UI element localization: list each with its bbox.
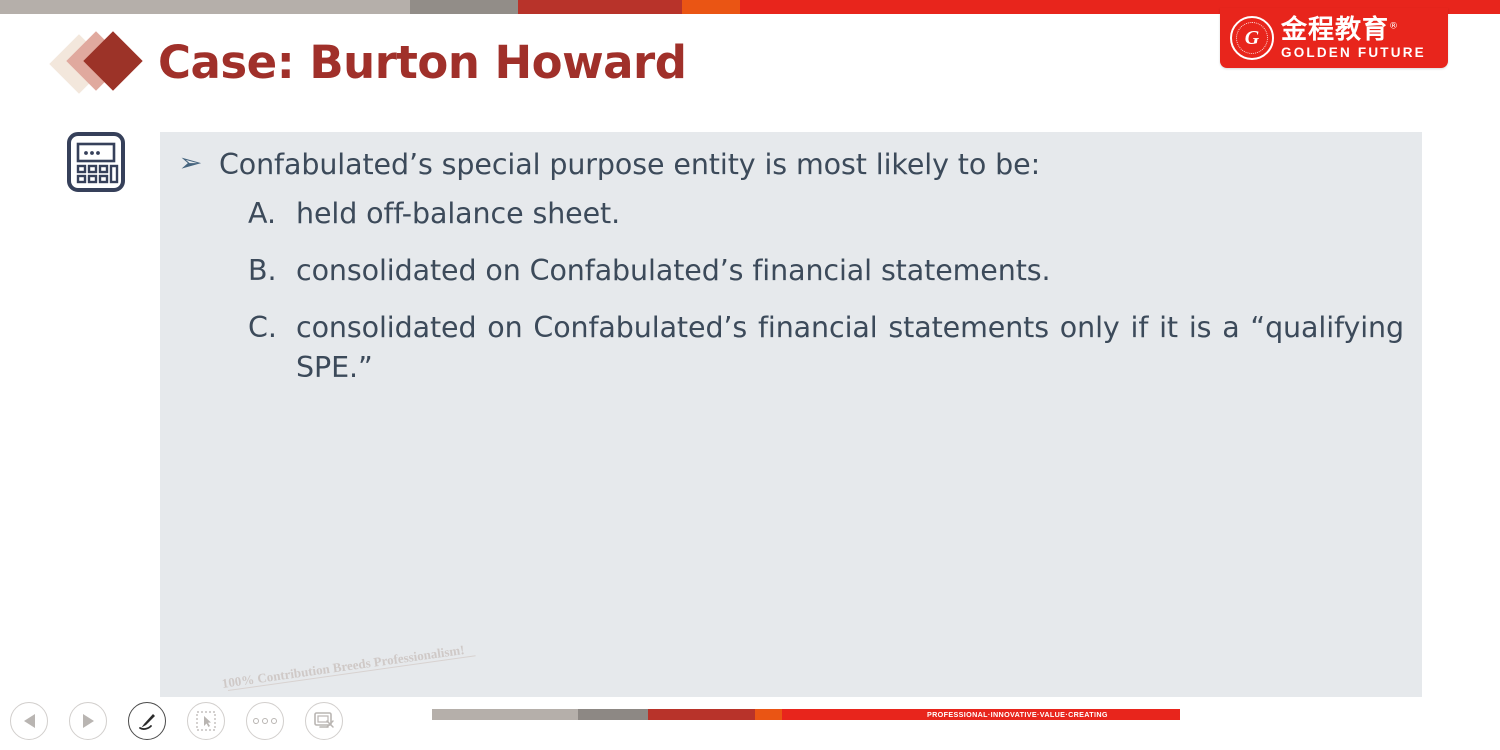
segment-light-gray bbox=[0, 0, 410, 14]
pointer-tool-button[interactable] bbox=[187, 702, 225, 740]
golden-future-seal-icon: G bbox=[1230, 16, 1274, 60]
option-text: held off-balance sheet. bbox=[296, 194, 1404, 234]
presentation-slide: G 金程教育® GOLDEN FUTURE Case: Burton Howar… bbox=[0, 0, 1500, 750]
brand-tagline: PROFESSIONAL·INNOVATIVE·VALUE·CREATING bbox=[927, 710, 1108, 719]
brand-name-cn-text: 金程教育 bbox=[1281, 15, 1389, 45]
previous-slide-button[interactable] bbox=[10, 702, 48, 740]
option-letter: A. bbox=[248, 194, 296, 234]
segment-dark-red bbox=[518, 0, 682, 14]
option-letter: C. bbox=[248, 308, 296, 348]
option-text: consolidated on Confabulated’s financial… bbox=[296, 308, 1404, 428]
next-slide-button[interactable] bbox=[69, 702, 107, 740]
triangle-left-icon bbox=[24, 714, 35, 728]
arrow-bullet-icon: ➢ bbox=[178, 146, 202, 180]
answer-option-a[interactable]: A. held off-balance sheet. bbox=[248, 194, 1404, 234]
option-letter: B. bbox=[248, 251, 296, 291]
more-options-button[interactable] bbox=[246, 702, 284, 740]
segment-orange bbox=[755, 709, 782, 720]
question-text: Confabulated’s special purpose entity is… bbox=[219, 146, 1040, 184]
presentation-view-button[interactable] bbox=[305, 702, 343, 740]
content-panel: ➢ Confabulated’s special purpose entity … bbox=[160, 132, 1422, 697]
brand-name-cn: 金程教育® bbox=[1281, 17, 1426, 43]
segment-orange bbox=[682, 0, 740, 14]
brand-logo-banner: G 金程教育® GOLDEN FUTURE bbox=[1220, 8, 1448, 68]
segment-mid-gray bbox=[578, 709, 648, 720]
answer-options-list: A. held off-balance sheet. B. consolidat… bbox=[160, 184, 1422, 428]
answer-option-c[interactable]: C. consolidated on Confabulated’s financ… bbox=[248, 308, 1404, 428]
question-row: ➢ Confabulated’s special purpose entity … bbox=[160, 132, 1422, 184]
option-text: consolidated on Confabulated’s financial… bbox=[296, 251, 1404, 291]
diamond-bullet-decoration bbox=[58, 32, 150, 98]
segment-mid-gray bbox=[410, 0, 518, 14]
pen-icon bbox=[135, 709, 159, 733]
answer-option-b[interactable]: B. consolidated on Confabulated’s financ… bbox=[248, 251, 1404, 291]
pen-tool-button[interactable] bbox=[128, 702, 166, 740]
three-dots-icon bbox=[253, 718, 277, 724]
triangle-right-icon bbox=[83, 714, 94, 728]
segment-dark-red bbox=[648, 709, 755, 720]
brand-wordmark: 金程教育® GOLDEN FUTURE bbox=[1281, 17, 1426, 60]
seal-monogram: G bbox=[1245, 28, 1259, 48]
registered-trademark-icon: ® bbox=[1389, 21, 1399, 31]
page-title: Case: Burton Howard bbox=[158, 36, 686, 89]
pointer-select-icon bbox=[194, 709, 218, 733]
screen-close-icon bbox=[311, 708, 337, 734]
segment-light-gray bbox=[432, 709, 578, 720]
calculator-icon bbox=[66, 131, 126, 198]
brand-name-en: GOLDEN FUTURE bbox=[1281, 46, 1426, 60]
